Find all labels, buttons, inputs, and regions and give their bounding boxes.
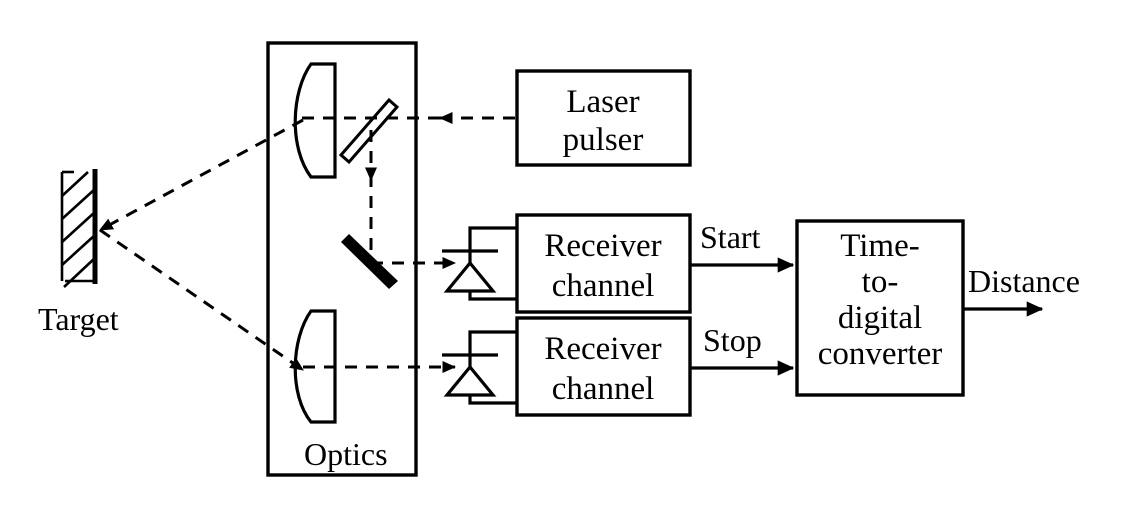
stop-signal: Stop — [690, 322, 793, 368]
receiver-channel-start-block[interactable]: Receiver channel — [517, 215, 690, 312]
laser-pulser-block[interactable]: Laser pulser — [517, 71, 690, 165]
distance-output-label: Distance — [968, 263, 1080, 299]
lidar-block-diagram: Target Optics — [0, 0, 1123, 527]
receiver-channel-start-label-line2: channel — [552, 268, 655, 304]
target-label: Target — [38, 301, 119, 337]
start-signal: Start — [690, 219, 793, 265]
tdc-label-line4: converter — [818, 336, 943, 372]
receiver-channel-start-label-line1: Receiver — [544, 228, 661, 264]
tdc-label-line1: Time- — [840, 228, 919, 264]
laser-pulser-label-line1: Laser — [566, 84, 639, 120]
receiver-channel-stop-block[interactable]: Receiver channel — [517, 318, 690, 415]
receiver-channel-stop-label-line1: Receiver — [544, 331, 661, 367]
start-photodiode — [442, 228, 517, 299]
start-signal-label: Start — [700, 219, 761, 255]
tdc-label-line3: digital — [838, 300, 922, 336]
target-component: Target — [38, 169, 119, 337]
target-hatching — [62, 172, 95, 287]
distance-output: Distance — [963, 263, 1080, 309]
time-to-digital-converter-block[interactable]: Time- to- digital converter — [797, 221, 963, 395]
optics-label: Optics — [304, 436, 388, 472]
receiver-channel-stop-label-line2: channel — [552, 371, 655, 407]
tdc-label-line2: to- — [862, 264, 899, 300]
stop-signal-label: Stop — [703, 322, 762, 358]
laser-pulser-label-line2: pulser — [563, 122, 644, 158]
diagram-canvas: Target Optics — [0, 0, 1123, 527]
